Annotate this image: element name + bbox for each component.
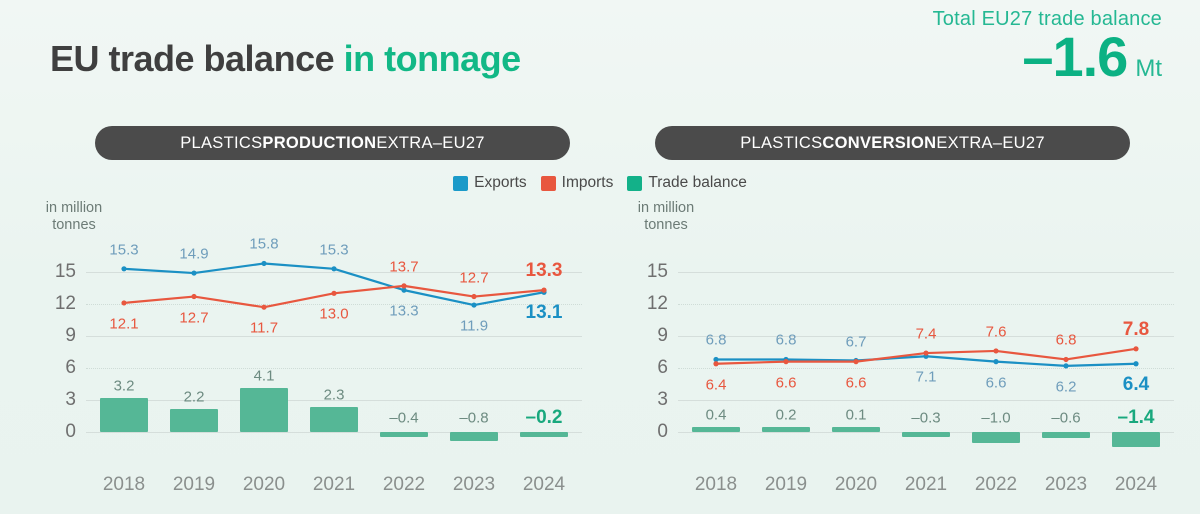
y-tick-label: 6 (657, 357, 668, 379)
exports-point-label: 6.7 (846, 333, 867, 350)
line-series-svg (678, 242, 1174, 490)
plot-area: 036912153.22.24.12.3–0.4–0.8–0.215.314.9… (86, 242, 582, 490)
imports-point-label: 11.7 (250, 320, 278, 337)
exports-point-label: 15.8 (249, 236, 278, 253)
legend-swatch-icon (627, 176, 642, 191)
data-point (993, 348, 998, 353)
x-axis-year-label: 2018 (695, 474, 737, 496)
exports-point-label: 13.1 (526, 302, 563, 324)
exports-point-label: 6.8 (776, 332, 797, 349)
x-axis-year-label: 2024 (523, 474, 565, 496)
imports-point-label: 6.6 (776, 374, 797, 391)
imports-point-label: 12.7 (179, 309, 208, 326)
total-value-row: –1.6 Mt (933, 29, 1162, 85)
imports-point-label: 6.8 (1056, 332, 1077, 349)
y-axis-title-line: in million (620, 200, 712, 217)
pill-left-bold: PRODUCTION (262, 134, 376, 153)
total-trade-balance: Total EU27 trade balance –1.6 Mt (933, 8, 1162, 85)
data-point (471, 302, 476, 307)
y-tick-label: 12 (647, 293, 668, 315)
x-axis-year-label: 2020 (835, 474, 877, 496)
pill-right-bold: CONVERSION (822, 134, 936, 153)
y-axis-title-line: in million (28, 200, 120, 217)
imports-point-label: 12.1 (109, 315, 138, 332)
data-point (1063, 363, 1068, 368)
pill-left-prefix: PLASTICS (180, 134, 262, 153)
x-axis-year-label: 2020 (243, 474, 285, 496)
pill-right-prefix: PLASTICS (740, 134, 822, 153)
x-axis-year-label: 2019 (765, 474, 807, 496)
section-header-conversion: PLASTICS CONVERSION EXTRA–EU27 (655, 126, 1130, 160)
imports-point-label: 13.0 (319, 306, 348, 323)
y-axis-title-line: tonnes (28, 217, 120, 234)
legend-label: Imports (562, 174, 614, 192)
imports-point-label: 6.4 (706, 376, 727, 393)
data-point (923, 350, 928, 355)
x-axis-year-label: 2021 (313, 474, 355, 496)
line-series-svg (86, 242, 582, 490)
y-tick-label: 9 (657, 325, 668, 347)
data-point (331, 291, 336, 296)
y-axis-title-line: tonnes (620, 217, 712, 234)
data-point (1063, 357, 1068, 362)
legend-item-exports: Exports (453, 174, 527, 192)
y-tick-label: 6 (65, 357, 76, 379)
imports-point-label: 13.7 (389, 258, 418, 275)
page-title-accent: in tonnage (344, 38, 521, 79)
data-point (121, 300, 126, 305)
chart-conversion: in milliontonnes 036912150.40.20.1–0.3–1… (612, 200, 1182, 500)
page-title: EU trade balance in tonnage (50, 38, 521, 80)
data-point (783, 359, 788, 364)
y-tick-label: 3 (65, 389, 76, 411)
total-value: –1.6 (1022, 29, 1127, 85)
data-point (401, 283, 406, 288)
pill-left-suffix: EXTRA–EU27 (376, 134, 484, 153)
data-point (541, 288, 546, 293)
exports-point-label: 6.2 (1056, 378, 1077, 395)
exports-point-label: 6.6 (986, 374, 1007, 391)
y-tick-label: 12 (55, 293, 76, 315)
data-point (713, 361, 718, 366)
legend-swatch-icon (453, 176, 468, 191)
pill-right-suffix: EXTRA–EU27 (936, 134, 1044, 153)
data-point (993, 359, 998, 364)
data-point (121, 266, 126, 271)
page-title-main: EU trade balance (50, 38, 334, 79)
data-point (261, 305, 266, 310)
exports-point-label: 15.3 (109, 241, 138, 258)
x-axis-year-label: 2024 (1115, 474, 1157, 496)
imports-point-label: 6.6 (846, 374, 867, 391)
section-header-production: PLASTICS PRODUCTION EXTRA–EU27 (95, 126, 570, 160)
total-unit: Mt (1135, 55, 1162, 83)
imports-point-label: 13.3 (526, 260, 563, 282)
imports-point-label: 7.4 (916, 326, 937, 343)
chart-legend: ExportsImportsTrade balance (0, 174, 1200, 192)
y-tick-label: 0 (65, 421, 76, 443)
data-point (1133, 361, 1138, 366)
x-axis-year-label: 2023 (453, 474, 495, 496)
legend-item-imports: Imports (541, 174, 614, 192)
data-point (471, 294, 476, 299)
data-point (261, 261, 266, 266)
data-point (853, 359, 858, 364)
data-point (331, 266, 336, 271)
y-axis-title: in milliontonnes (28, 200, 120, 234)
plot-area: 036912150.40.20.1–0.3–1.0–0.6–1.46.86.86… (678, 242, 1174, 490)
y-tick-label: 9 (65, 325, 76, 347)
y-tick-label: 0 (657, 421, 668, 443)
data-point (1133, 346, 1138, 351)
exports-point-label: 13.3 (389, 303, 418, 320)
imports-point-label: 7.6 (986, 323, 1007, 340)
legend-item-trade-balance: Trade balance (627, 174, 747, 192)
data-point (191, 294, 196, 299)
y-tick-label: 15 (55, 261, 76, 283)
exports-point-label: 15.3 (319, 241, 348, 258)
x-axis-year-label: 2022 (383, 474, 425, 496)
exports-point-label: 6.4 (1123, 374, 1149, 396)
y-axis-title: in milliontonnes (620, 200, 712, 234)
exports-point-label: 11.9 (460, 318, 488, 335)
legend-label: Trade balance (648, 174, 747, 192)
exports-point-label: 7.1 (916, 369, 937, 386)
imports-point-label: 7.8 (1123, 319, 1149, 341)
chart-production: in milliontonnes 036912153.22.24.12.3–0.… (20, 200, 590, 500)
x-axis-year-label: 2018 (103, 474, 145, 496)
legend-swatch-icon (541, 176, 556, 191)
x-axis-year-label: 2021 (905, 474, 947, 496)
y-tick-label: 15 (647, 261, 668, 283)
imports-point-label: 12.7 (459, 269, 488, 286)
x-axis-year-label: 2022 (975, 474, 1017, 496)
data-point (191, 270, 196, 275)
legend-label: Exports (474, 174, 527, 192)
exports-point-label: 6.8 (706, 332, 727, 349)
exports-point-label: 14.9 (179, 246, 208, 263)
x-axis-year-label: 2023 (1045, 474, 1087, 496)
x-axis-year-label: 2019 (173, 474, 215, 496)
y-tick-label: 3 (657, 389, 668, 411)
